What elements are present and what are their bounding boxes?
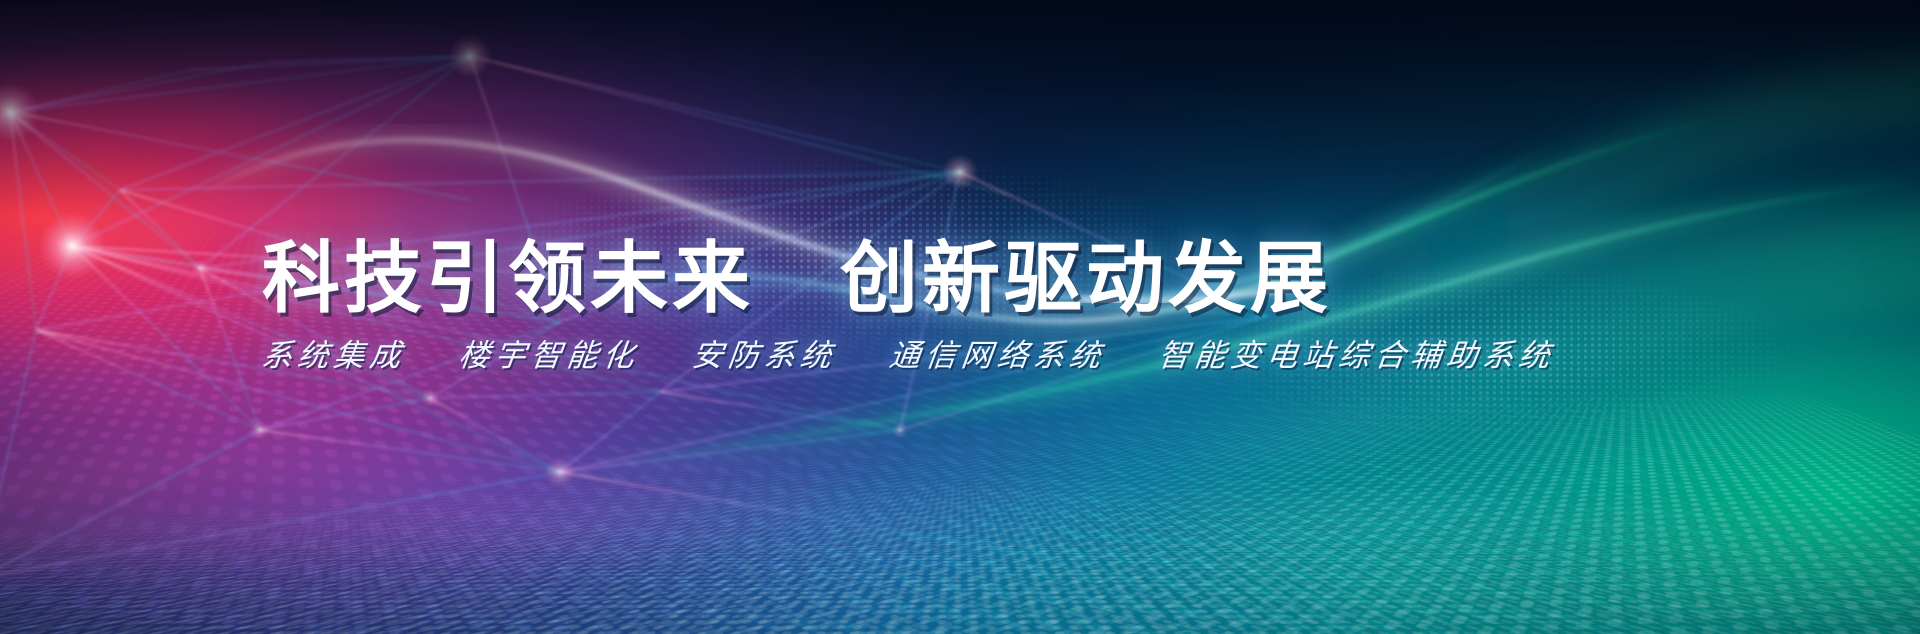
background-vignette [0, 0, 1920, 634]
hero-banner: 科技引领未来 创新驱动发展 系统集成 楼宇智能化 安防系统 通信网络系统 智能变… [0, 0, 1920, 634]
